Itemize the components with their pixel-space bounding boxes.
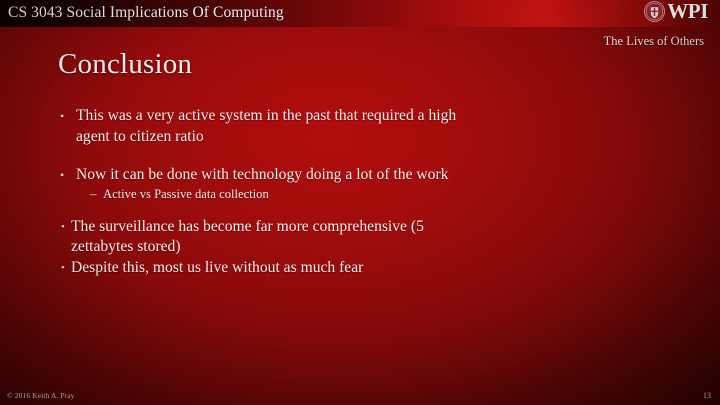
slide-title: Conclusion [58,48,192,81]
wpi-logo: WPI [644,1,708,22]
presentation-slide: CS 3043 Social Implications Of Computing… [0,0,720,405]
sub-bullet-item: – Active vs Passive data collection [56,186,486,203]
sub-bullet-text: Active vs Passive data collection [103,187,269,201]
footer-copyright: © 2016 Keith A. Pray [7,391,75,400]
bullet-text: The surveillance has become far more com… [71,218,424,256]
presentation-subtitle: The Lives of Others [604,34,704,49]
slide-body: • This was a very active system in the p… [56,106,486,278]
dash-marker-icon: – [90,186,96,203]
bullet-marker-icon: • [61,258,65,279]
wpi-seal-icon [644,1,665,22]
bullet-marker-icon: • [60,165,64,186]
slide-page-number: 13 [703,391,711,400]
bullet-spacer [56,203,486,217]
bullet-marker-icon: • [60,106,64,127]
bullet-text: Despite this, most us live without as mu… [71,259,363,276]
course-title: CS 3043 Social Implications Of Computing [8,4,284,22]
bullet-item: • This was a very active system in the p… [56,106,486,147]
slide-header-bar: CS 3043 Social Implications Of Computing… [0,0,720,27]
bullet-text: Now it can be done with technology doing… [76,166,448,183]
bullet-marker-icon: • [61,217,65,238]
bullet-item: • Now it can be done with technology doi… [56,165,486,186]
bullet-item: • Despite this, most us live without as … [56,258,486,279]
bullet-text: This was a very active system in the pas… [76,107,456,145]
bullet-item: • The surveillance has become far more c… [56,217,486,258]
wpi-wordmark: WPI [667,1,708,22]
bullet-spacer [56,147,486,165]
